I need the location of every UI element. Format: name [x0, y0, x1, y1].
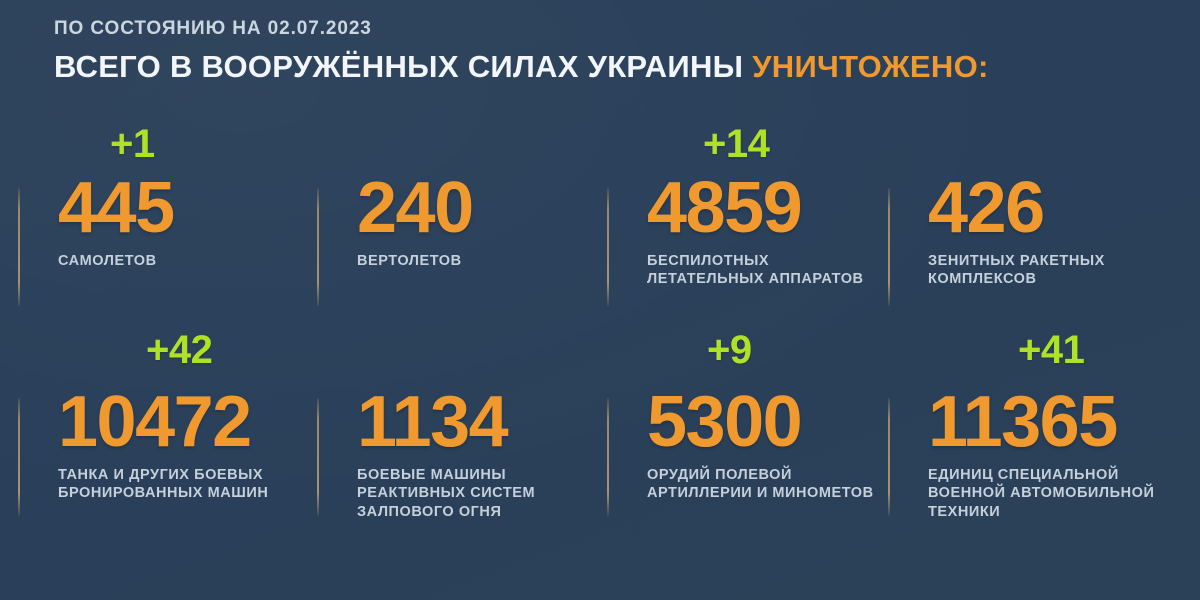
stat-value: 1134 [357, 392, 601, 454]
column-divider [607, 398, 609, 516]
column-divider [888, 188, 890, 306]
stat-value: 426 [928, 178, 1182, 240]
stat-label: ЗЕНИТНЫХ РАКЕТНЫХ КОМПЛЕКСОВ [928, 252, 1178, 289]
stat-delta-badge: +14 [703, 124, 769, 164]
stat-label-line: ТЕХНИКИ [928, 503, 1178, 522]
header-date: ПО СОСТОЯНИЮ НА 02.07.2023 [54, 18, 1180, 40]
column-divider [607, 188, 609, 306]
stat-label: ВЕРТОЛЕТОВ [357, 252, 601, 271]
stat-card-tanks: +42 10472 ТАНКА И ДРУГИХ БОЕВЫХ БРОНИРОВ… [18, 330, 317, 540]
stat-value: 240 [357, 178, 601, 240]
stat-card-sam-systems: 426 ЗЕНИТНЫХ РАКЕТНЫХ КОМПЛЕКСОВ [888, 120, 1188, 330]
stat-label-line: КОМПЛЕКСОВ [928, 270, 1178, 289]
stats-row: +42 10472 ТАНКА И ДРУГИХ БОЕВЫХ БРОНИРОВ… [0, 330, 1200, 540]
header: ПО СОСТОЯНИЮ НА 02.07.2023 ВСЕГО В ВООРУ… [54, 18, 1180, 85]
stat-label-line: ЛЕТАТЕЛЬНЫХ АППАРАТОВ [647, 270, 882, 289]
column-divider [888, 398, 890, 516]
stat-label-line: ТАНКА И ДРУГИХ БОЕВЫХ [58, 466, 308, 485]
stat-label-line: БЕСПИЛОТНЫХ [647, 252, 882, 271]
stats-grid: +1 445 САМОЛЕТОВ 240 ВЕРТОЛЕТОВ [0, 120, 1200, 540]
stat-label-line: ЕДИНИЦ СПЕЦИАЛЬНОЙ [928, 466, 1178, 485]
stat-value: 10472 [58, 392, 311, 454]
stat-delta-badge: +42 [146, 330, 212, 370]
stats-row: +1 445 САМОЛЕТОВ 240 ВЕРТОЛЕТОВ [0, 120, 1200, 330]
stat-value: 4859 [647, 178, 882, 240]
stat-label: БЕСПИЛОТНЫХ ЛЕТАТЕЛЬНЫХ АППАРАТОВ [647, 252, 882, 289]
stat-label-line: БРОНИРОВАННЫХ МАШИН [58, 484, 308, 503]
stat-label-line: ВЕРТОЛЕТОВ [357, 252, 601, 271]
stat-card-mlrs: 1134 БОЕВЫЕ МАШИНЫ РЕАКТИВНЫХ СИСТЕМ ЗАЛ… [317, 330, 607, 540]
stat-label-line: АРТИЛЛЕРИИ И МИНОМЕТОВ [647, 484, 882, 503]
column-divider [18, 398, 20, 516]
stat-value: 5300 [647, 392, 882, 454]
stat-label: ТАНКА И ДРУГИХ БОЕВЫХ БРОНИРОВАННЫХ МАШИ… [58, 466, 308, 503]
stat-label-line: ЗЕНИТНЫХ РАКЕТНЫХ [928, 252, 1178, 271]
stat-card-helicopters: 240 ВЕРТОЛЕТОВ [317, 120, 607, 330]
stat-value: 445 [58, 178, 311, 240]
stat-label-line: РЕАКТИВНЫХ СИСТЕМ [357, 484, 601, 503]
page-title-accent: УНИЧТОЖЕНО: [752, 49, 988, 84]
stat-label: ЕДИНИЦ СПЕЦИАЛЬНОЙ ВОЕННОЙ АВТОМОБИЛЬНОЙ… [928, 466, 1178, 522]
stat-label-line: БОЕВЫЕ МАШИНЫ [357, 466, 601, 485]
stat-label: САМОЛЕТОВ [58, 252, 308, 271]
stat-value: 11365 [928, 392, 1182, 454]
page-title: ВСЕГО В ВООРУЖЁННЫХ СИЛАХ УКРАИНЫ УНИЧТО… [54, 49, 1180, 85]
stat-card-uav: +14 4859 БЕСПИЛОТНЫХ ЛЕТАТЕЛЬНЫХ АППАРАТ… [607, 120, 888, 330]
stat-card-military-vehicles: +41 11365 ЕДИНИЦ СПЕЦИАЛЬНОЙ ВОЕННОЙ АВТ… [888, 330, 1188, 540]
stat-delta-badge: +9 [707, 330, 752, 370]
column-divider [317, 398, 319, 516]
infographic-canvas: ПО СОСТОЯНИЮ НА 02.07.2023 ВСЕГО В ВООРУ… [0, 0, 1200, 600]
stat-label-line: ОРУДИЙ ПОЛЕВОЙ [647, 466, 882, 485]
stat-delta-badge: +1 [110, 124, 155, 164]
stat-label-line: ЗАЛПОВОГО ОГНЯ [357, 503, 601, 522]
column-divider [317, 188, 319, 306]
stat-card-artillery: +9 5300 ОРУДИЙ ПОЛЕВОЙ АРТИЛЛЕРИИ И МИНО… [607, 330, 888, 540]
stat-delta-badge: +41 [1018, 330, 1084, 370]
page-title-main: ВСЕГО В ВООРУЖЁННЫХ СИЛАХ УКРАИНЫ [54, 49, 743, 84]
stat-label: ОРУДИЙ ПОЛЕВОЙ АРТИЛЛЕРИИ И МИНОМЕТОВ [647, 466, 882, 503]
stat-label-line: ВОЕННОЙ АВТОМОБИЛЬНОЙ [928, 484, 1178, 503]
stat-label-line: САМОЛЕТОВ [58, 252, 308, 271]
stat-label: БОЕВЫЕ МАШИНЫ РЕАКТИВНЫХ СИСТЕМ ЗАЛПОВОГ… [357, 466, 601, 522]
column-divider [18, 188, 20, 306]
stat-card-aircraft: +1 445 САМОЛЕТОВ [18, 120, 317, 330]
